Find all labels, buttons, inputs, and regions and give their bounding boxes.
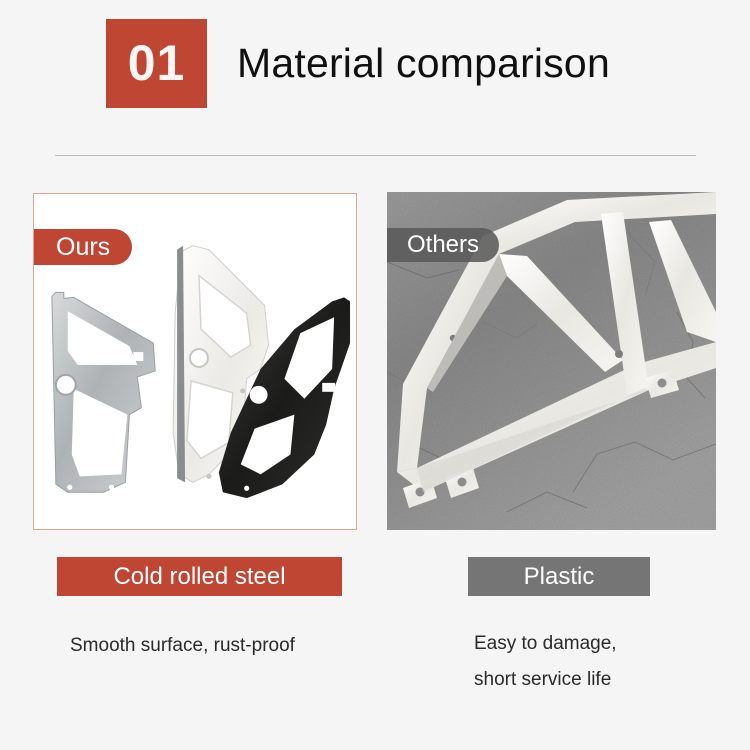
badge-ours: Ours [34, 229, 132, 265]
header-divider [55, 155, 696, 156]
badge-others: Others [387, 228, 499, 262]
panel-others: Others [387, 192, 716, 530]
caption-cold-rolled-steel: Cold rolled steel [57, 557, 342, 596]
infographic-page: 01 Material comparison [0, 0, 750, 750]
description-others-line2: short service life [474, 662, 617, 698]
description-ours-line1: Smooth surface, rust-proof [70, 628, 295, 664]
page-header: 01 Material comparison [106, 17, 706, 109]
description-ours: Smooth surface, rust-proof [70, 628, 295, 664]
description-others-line1: Easy to damage, [474, 626, 617, 662]
description-others: Easy to damage, short service life [474, 626, 617, 698]
panel-ours: Ours [33, 193, 357, 530]
caption-plastic: Plastic [468, 557, 650, 596]
page-title: Material comparison [237, 40, 610, 87]
step-number-badge: 01 [106, 19, 207, 108]
